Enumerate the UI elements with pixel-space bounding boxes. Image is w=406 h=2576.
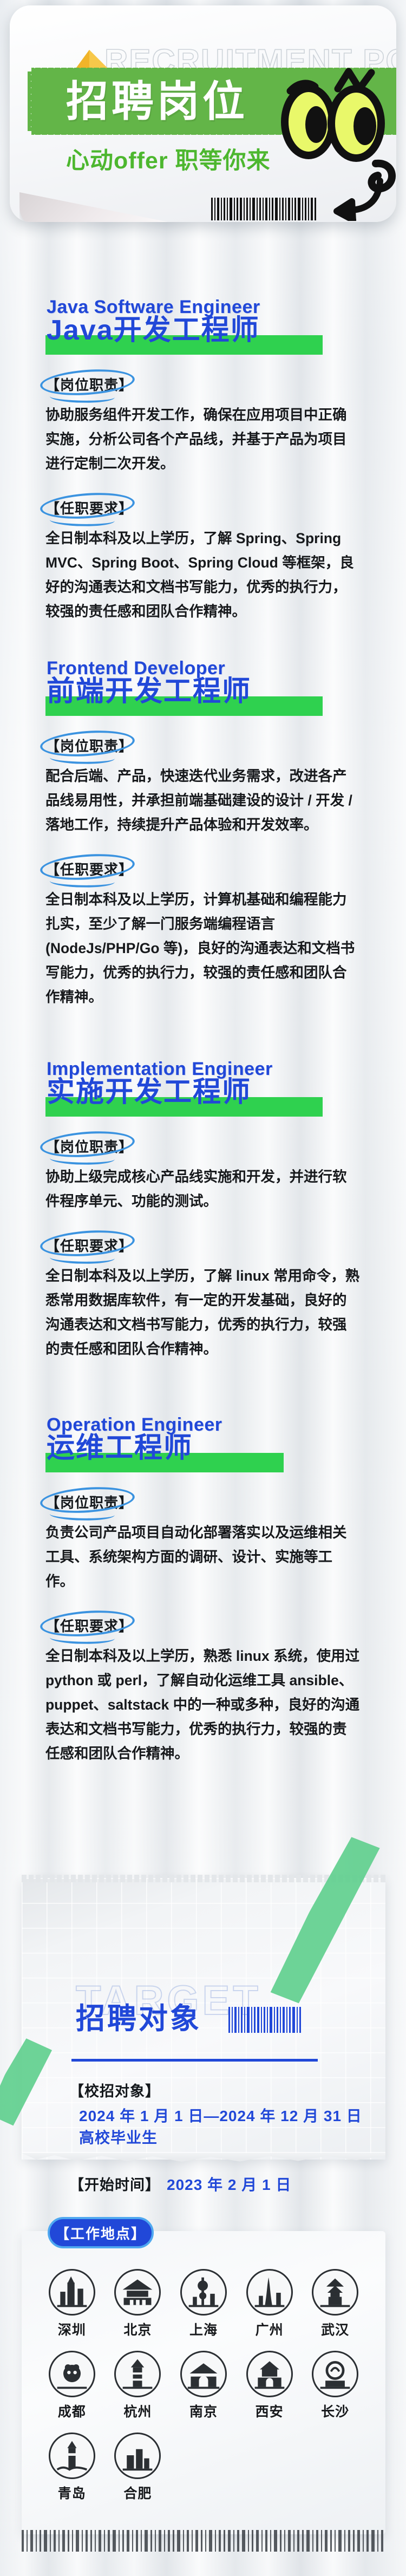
campus-target-label: 【校招对象】 bbox=[69, 2079, 160, 2101]
city-item-xian[interactable]: 西安 bbox=[237, 2351, 303, 2421]
city-label: 杭州 bbox=[123, 2401, 152, 2421]
barcode-icon bbox=[228, 2007, 302, 2033]
requirement-heading: 【任职要求】 bbox=[45, 1235, 133, 1255]
requirement-heading: 【任职要求】 bbox=[45, 1615, 133, 1635]
recruitment-target-card: TARGET 招聘对象 【校招对象】 2024 年 1 月 1 日—2024 年… bbox=[22, 1878, 385, 2160]
city-landmark-changsha-icon bbox=[312, 2351, 358, 2397]
requirement-text: 全日制本科及以上学历，了解 linux 常用命令，熟悉常用数据库软件，有一定的开… bbox=[45, 1264, 361, 1361]
curved-arrow-icon bbox=[333, 178, 385, 221]
city-item-shanghai[interactable]: 上海 bbox=[171, 2269, 237, 2339]
city-label: 长沙 bbox=[321, 2401, 349, 2421]
city-label: 深圳 bbox=[58, 2319, 86, 2339]
duty-heading: 【岗位职责】 bbox=[45, 1492, 133, 1512]
job-block-java: Java Software Engineer Java开发工程师 【岗位职责】 … bbox=[0, 297, 406, 624]
target-title: 招聘对象 bbox=[76, 1994, 201, 2037]
requirement-heading: 【任职要求】 bbox=[45, 859, 133, 879]
city-item-qingdao[interactable]: 青岛 bbox=[39, 2432, 105, 2502]
duty-text: 配合后端、产品，快速迭代业务需求，改进各产品线易用性，并承担前端基础建设的设计 … bbox=[45, 764, 361, 837]
city-landmark-wuhan-icon bbox=[312, 2269, 358, 2316]
city-item-guangzhou[interactable]: 广州 bbox=[237, 2269, 303, 2339]
city-item-chengdu[interactable]: 成都 bbox=[39, 2351, 105, 2421]
job-block-implementation: Implementation Engineer 实施开发工程师 【岗位职责】 协… bbox=[0, 1059, 406, 1361]
city-label: 青岛 bbox=[58, 2483, 86, 2502]
requirement-text: 全日制本科及以上学历，计算机基础和编程能力扎实，至少了解一门服务端编程语言(No… bbox=[45, 888, 361, 1009]
start-time-value: 2023 年 2 月 1 日 bbox=[167, 2173, 291, 2195]
duty-heading: 【岗位职责】 bbox=[45, 374, 133, 394]
requirement-heading: 【任职要求】 bbox=[45, 498, 133, 518]
city-landmark-guangzhou-icon bbox=[246, 2269, 293, 2316]
page-title: 招聘岗位 bbox=[66, 80, 248, 123]
footer-barcode-icon bbox=[22, 2530, 385, 2552]
start-time-label: 【开始时间】 bbox=[69, 2173, 160, 2194]
city-item-shenzhen[interactable]: 深圳 bbox=[39, 2269, 105, 2339]
city-item-nanjing[interactable]: 南京 bbox=[171, 2351, 237, 2421]
job-block-frontend: Frontend Developer 前端开发工程师 【岗位职责】 配合后端、产… bbox=[0, 658, 406, 1009]
campus-target-dates: 2024 年 1 月 1 日—2024 年 12 月 31 日 bbox=[79, 2104, 362, 2126]
barcode-icon bbox=[211, 198, 317, 220]
city-landmark-qingdao-icon bbox=[49, 2432, 95, 2479]
city-item-changsha[interactable]: 长沙 bbox=[302, 2351, 368, 2421]
city-item-wuhan[interactable]: 武汉 bbox=[302, 2269, 368, 2339]
duty-text: 协助服务组件开发工作，确保在应用项目中正确实施，分析公司各个产品线，并基于产品为… bbox=[45, 403, 361, 476]
job-title-cn: 前端开发工程师 bbox=[47, 675, 251, 708]
city-landmark-nanjing-icon bbox=[180, 2351, 227, 2397]
duty-heading: 【岗位职责】 bbox=[45, 1136, 133, 1156]
city-landmark-xian-icon bbox=[246, 2351, 293, 2397]
work-locations-card: 【工作地点】 深圳 bbox=[22, 2231, 385, 2534]
divider bbox=[71, 2059, 318, 2062]
city-landmark-hefei-icon bbox=[114, 2432, 161, 2479]
work-location-badge: 【工作地点】 bbox=[48, 2217, 154, 2248]
requirement-text: 全日制本科及以上学历，熟悉 linux 系统，使用过 python 或 perl… bbox=[45, 1644, 361, 1766]
city-item-hefei[interactable]: 合肥 bbox=[105, 2432, 171, 2502]
page-curl bbox=[19, 192, 198, 222]
city-landmark-shenzhen-icon bbox=[49, 2269, 95, 2316]
duty-heading: 【岗位职责】 bbox=[45, 735, 133, 755]
city-label: 武汉 bbox=[321, 2319, 349, 2339]
city-label: 上海 bbox=[189, 2319, 218, 2339]
city-label: 广州 bbox=[256, 2319, 284, 2339]
city-item-hangzhou[interactable]: 杭州 bbox=[105, 2351, 171, 2421]
city-landmark-chengdu-icon bbox=[49, 2351, 95, 2397]
city-landmark-shanghai-icon bbox=[180, 2269, 227, 2316]
duty-text: 负责公司产品项目自动化部署落实以及运维相关工具、系统架构方面的调研、设计、实施等… bbox=[45, 1521, 361, 1594]
city-label: 成都 bbox=[58, 2401, 86, 2421]
city-label: 西安 bbox=[256, 2401, 284, 2421]
header-card: RECRUITMENT POST 招聘岗位 心动offer 职等你来 bbox=[10, 5, 396, 222]
job-title-cn: 实施开发工程师 bbox=[47, 1075, 251, 1109]
city-grid: 深圳 北京 bbox=[39, 2269, 368, 2502]
campus-target-audience: 高校毕业生 bbox=[79, 2126, 158, 2148]
job-title-cn: 运维工程师 bbox=[47, 1431, 193, 1465]
city-label: 合肥 bbox=[123, 2483, 152, 2502]
duty-text: 协助上级完成核心产品线实施和开发，并进行软件程序单元、功能的测试。 bbox=[45, 1165, 361, 1214]
city-label: 南京 bbox=[189, 2401, 218, 2421]
page-subtitle: 心动offer 职等你来 bbox=[66, 147, 271, 174]
city-landmark-hangzhou-icon bbox=[114, 2351, 161, 2397]
city-landmark-beijing-icon bbox=[114, 2269, 161, 2316]
requirement-text: 全日制本科及以上学历，了解 Spring、Spring MVC、Spring B… bbox=[45, 526, 361, 624]
city-item-beijing[interactable]: 北京 bbox=[105, 2269, 171, 2339]
city-label: 北京 bbox=[123, 2319, 152, 2339]
job-block-operation: Operation Engineer 运维工程师 【岗位职责】 负责公司产品项目… bbox=[0, 1414, 406, 1766]
job-title-cn: Java开发工程师 bbox=[47, 314, 260, 347]
